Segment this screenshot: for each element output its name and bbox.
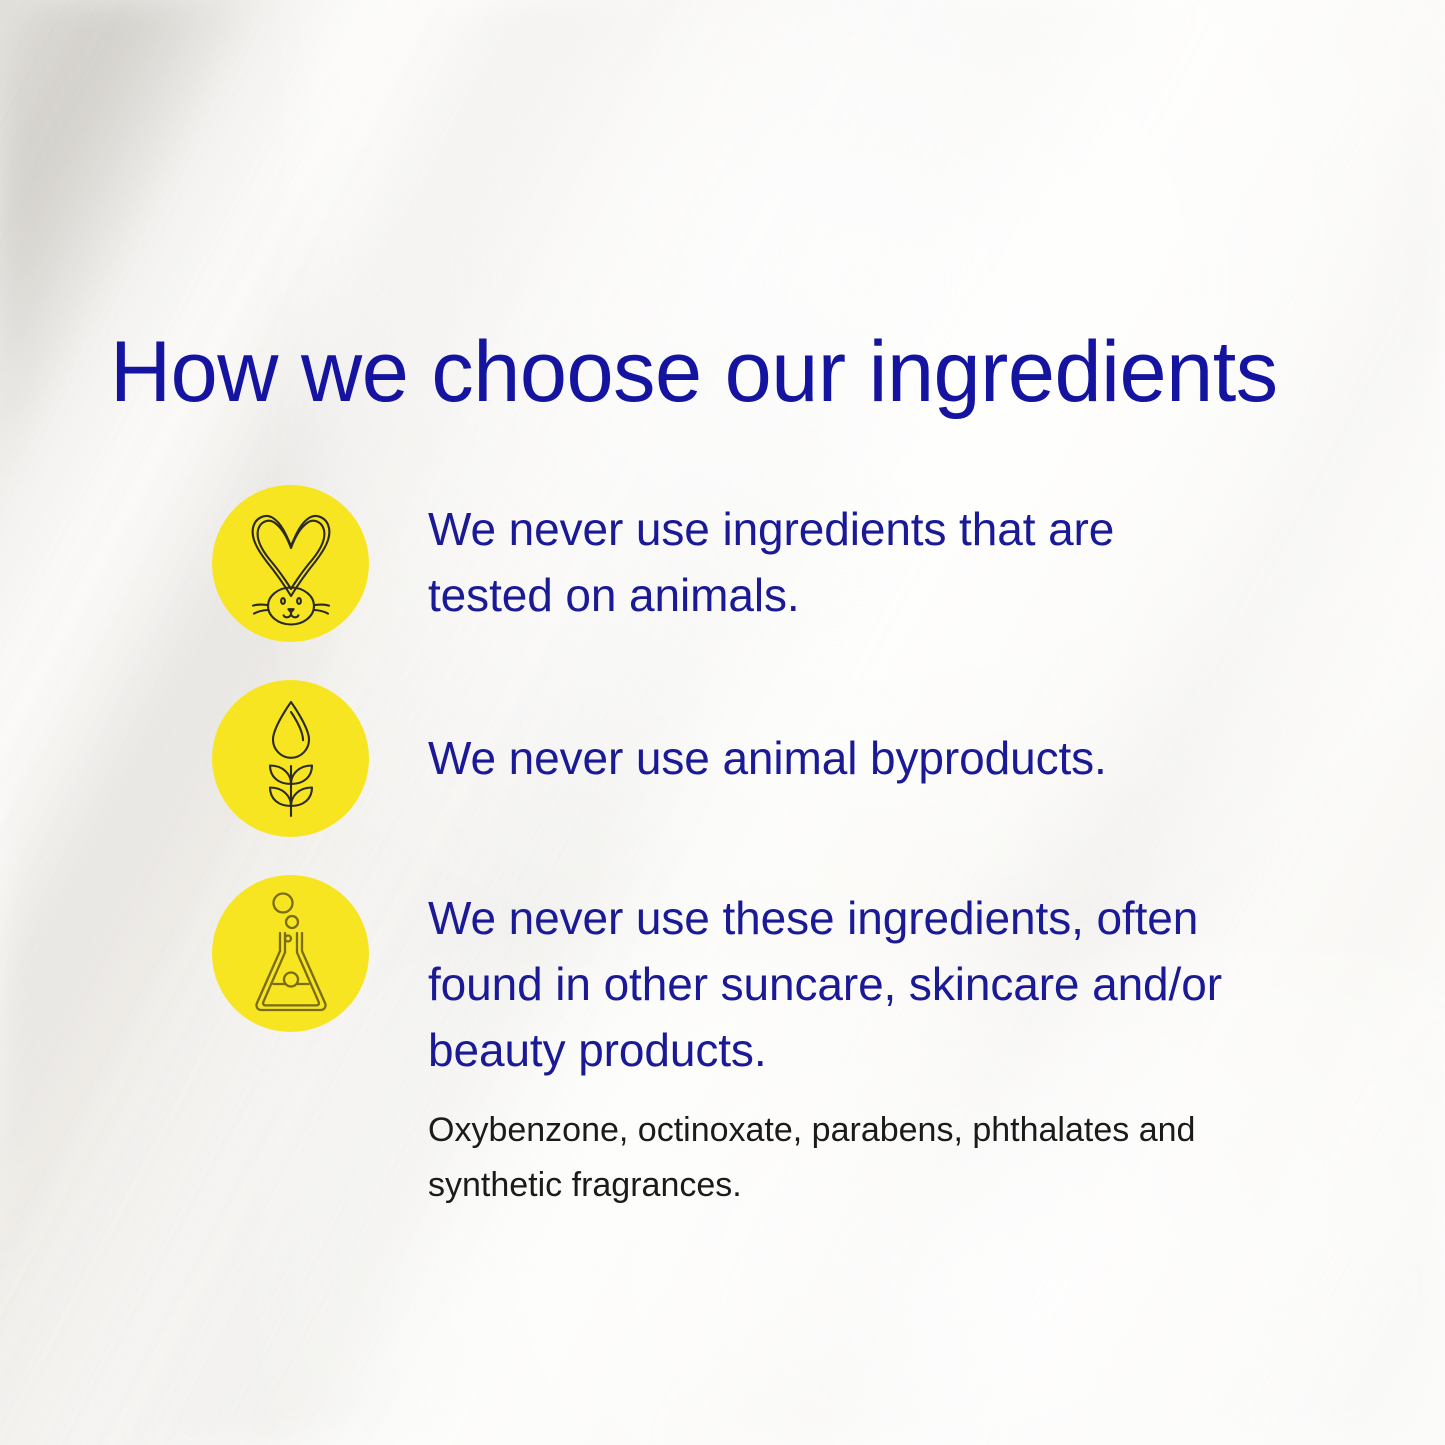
claim-item-cruelty-free: We never use ingredients that are tested… <box>212 485 1188 642</box>
flask-bubbles-icon <box>212 875 369 1032</box>
bunny-heart-ears-icon <box>212 485 369 642</box>
claim-text: We never use animal byproducts. <box>428 680 1188 791</box>
claim-item-no-bad-ingredients: We never use these ingredients, often fo… <box>212 875 1308 1083</box>
claim-text: We never use these ingredients, often fo… <box>428 875 1308 1083</box>
claim-item-no-animal-byproducts: We never use animal byproducts. <box>212 680 1188 837</box>
page-title: How we choose our ingredients <box>110 324 1351 420</box>
excluded-ingredients-note: Oxybenzone, octinoxate, parabens, phthal… <box>428 1103 1228 1213</box>
claim-text: We never use ingredients that are tested… <box>428 485 1188 628</box>
plant-droplet-icon <box>212 680 369 837</box>
ingredients-info-graphic: How we choose our ingredients <box>0 0 1445 1445</box>
